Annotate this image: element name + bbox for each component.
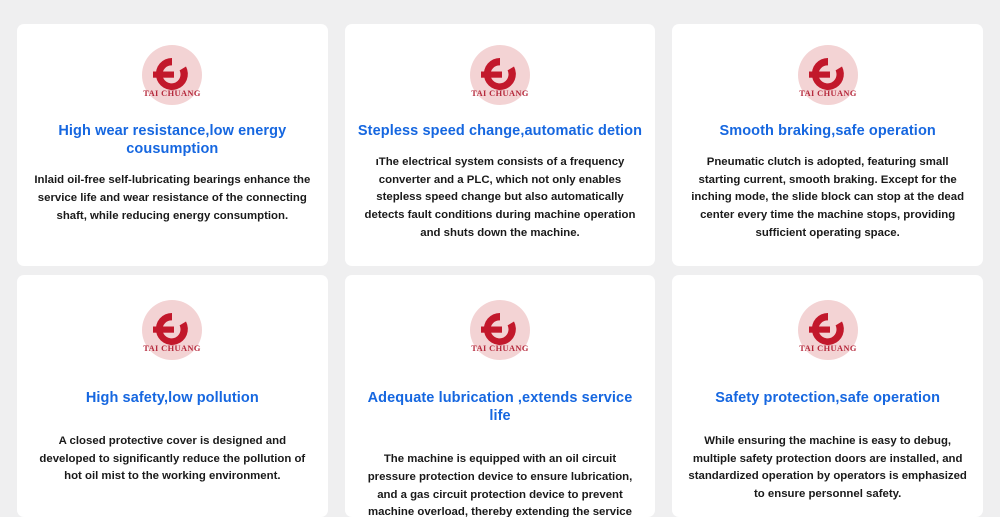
tai-chuang-logo-icon: TAI CHUANG	[141, 44, 203, 106]
feature-card-title: Smooth braking,safe operation	[717, 122, 937, 140]
svg-text:TAI CHUANG: TAI CHUANG	[471, 344, 529, 353]
svg-text:TAI CHUANG: TAI CHUANG	[799, 89, 857, 98]
feature-card-5[interactable]: TAI CHUANG Adequate lubrication ,extends…	[345, 275, 656, 517]
feature-card-title: High safety,low pollution	[84, 389, 261, 407]
feature-card-title: Adequate lubrication ,extends service li…	[355, 389, 646, 425]
svg-text:TAI CHUANG: TAI CHUANG	[471, 89, 529, 98]
svg-text:TAI CHUANG: TAI CHUANG	[144, 89, 202, 98]
feature-card-body: A closed protective cover is designed an…	[27, 433, 318, 486]
feature-card-grid: TAI CHUANG High wear resistance,low ener…	[0, 0, 1000, 508]
tai-chuang-logo-icon: TAI CHUANG	[797, 299, 859, 361]
feature-card-4[interactable]: TAI CHUANG High safety,low pollution A c…	[17, 275, 328, 517]
feature-card-2[interactable]: TAI CHUANG Stepless speed change,automat…	[345, 24, 656, 266]
svg-text:TAI CHUANG: TAI CHUANG	[799, 344, 857, 353]
feature-card-1[interactable]: TAI CHUANG High wear resistance,low ener…	[17, 24, 328, 266]
tai-chuang-logo-icon: TAI CHUANG	[469, 44, 531, 106]
tai-chuang-logo-icon: TAI CHUANG	[469, 299, 531, 361]
feature-card-title: Safety protection,safe operation	[713, 389, 942, 407]
tai-chuang-logo-icon: TAI CHUANG	[141, 299, 203, 361]
feature-card-title: High wear resistance,low energy cousumpt…	[27, 122, 318, 158]
svg-text:TAI CHUANG: TAI CHUANG	[144, 344, 202, 353]
feature-card-body: While ensuring the machine is easy to de…	[682, 433, 973, 504]
feature-card-body: The machine is equipped with an oil circ…	[355, 451, 646, 517]
feature-card-title: Stepless speed change,automatic detion	[356, 122, 644, 140]
tai-chuang-logo-icon: TAI CHUANG	[797, 44, 859, 106]
feature-card-3[interactable]: TAI CHUANG Smooth braking,safe operation…	[672, 24, 983, 266]
feature-card-body: Pneumatic clutch is adopted, featuring s…	[682, 154, 973, 242]
feature-card-6[interactable]: TAI CHUANG Safety protection,safe operat…	[672, 275, 983, 517]
feature-card-body: ıThe electrical system consists of a fre…	[355, 154, 646, 242]
feature-card-body: Inlaid oil-free self-lubricating bearing…	[27, 172, 318, 225]
